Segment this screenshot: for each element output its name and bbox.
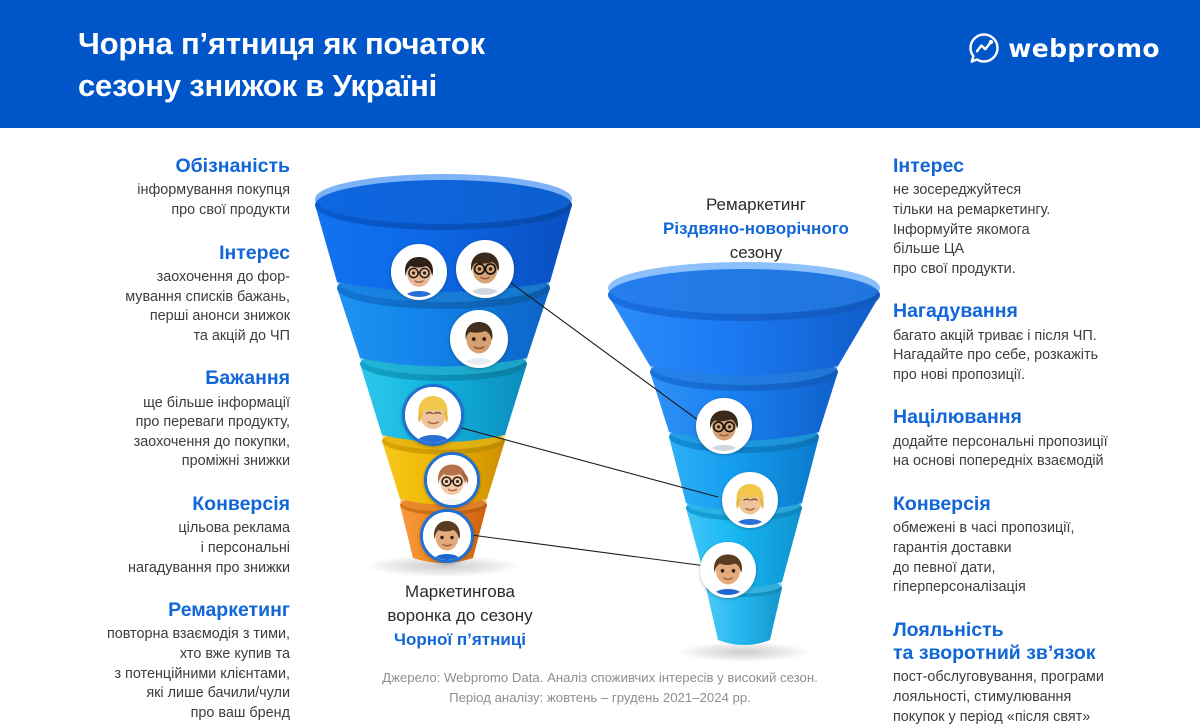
right-block-body: багато акцій триває і після ЧП. Нагадайт… — [893, 327, 1193, 386]
avatar-awareness-2 — [456, 240, 514, 298]
avatar-right-reminder — [696, 398, 752, 454]
avatar-remarketing-left — [420, 509, 474, 563]
left-block-title: Обізнаність — [20, 155, 290, 178]
brand-logo: webpromo — [969, 31, 1160, 65]
left-block-desire: Бажання ще більше інформації про переваг… — [20, 367, 290, 472]
right-block-body: додайте персональні пропозиції на основі… — [893, 433, 1193, 472]
left-block-body: заохочення до фор- мування списків бажан… — [20, 268, 290, 346]
caption-remarketing: Ремаркетинг Різдвяно-новорічного сезону — [628, 193, 884, 265]
left-block-awareness: Обізнаність інформування покупця про сво… — [20, 155, 290, 221]
right-block-title: Нагадування — [893, 300, 1193, 323]
logo-wordmark: webpromo — [1008, 34, 1160, 63]
caption-funnel-line2: воронка до сезону — [332, 604, 588, 628]
page-title: Чорна п’ятниця як початок сезону знижок … — [78, 23, 718, 106]
left-block-title: Ремаркетинг — [20, 599, 290, 622]
avatar-awareness-1 — [391, 244, 447, 300]
caption-remarketing-line3: сезону — [628, 241, 884, 265]
left-block-body: інформування покупця про свої продукти — [20, 181, 290, 220]
caption-remarketing-line2: Різдвяно-новорічного — [628, 217, 884, 241]
caption-funnel-line1: Маркетингова — [332, 580, 588, 604]
caption-remarketing-line1: Ремаркетинг — [628, 193, 884, 217]
right-block-body: пост-обслуговування, програми лояльності… — [893, 668, 1193, 727]
left-block-conversion: Конверсія цільова реклама і персональні … — [20, 493, 290, 578]
avatar-right-targeting — [722, 472, 778, 528]
right-stage-list: Інтерес не зосереджуйтеся тільки на рема… — [893, 155, 1193, 727]
left-stage-list: Обізнаність інформування покупця про сво… — [20, 155, 290, 723]
funnel-right-segment-1 — [608, 262, 880, 376]
right-block-title: Націлювання — [893, 406, 1193, 429]
right-block-targeting: Націлювання додайте персональні пропозиц… — [893, 406, 1193, 472]
left-block-body: цільова реклама і персональні нагадуванн… — [20, 519, 290, 578]
left-block-body: ще більше інформації про переваги продук… — [20, 394, 290, 472]
right-block-title: Конверсія — [893, 493, 1193, 516]
avatar-interest — [450, 310, 508, 368]
left-block-title: Інтерес — [20, 242, 290, 265]
avatar-desire — [402, 384, 464, 446]
avatar-conversion — [424, 452, 480, 508]
caption-funnel: Маркетингова воронка до сезону Чорної п’… — [332, 580, 588, 652]
right-block-interest: Інтерес не зосереджуйтеся тільки на рема… — [893, 155, 1193, 279]
webpromo-mark-icon — [969, 33, 999, 63]
right-block-title: Інтерес — [893, 155, 1193, 178]
connector-line-1 — [500, 275, 702, 423]
left-block-title: Конверсія — [20, 493, 290, 516]
right-block-conversion: Конверсія обмежені в часі пропозиції, га… — [893, 493, 1193, 598]
connector-line-3 — [456, 533, 706, 566]
left-block-remarketing: Ремаркетинг повторна взаємодія з тими, х… — [20, 599, 290, 723]
source-note: Джерело: Webpromo Data. Аналіз споживчих… — [300, 668, 900, 708]
caption-funnel-line3: Чорної п’ятниці — [332, 628, 588, 652]
header-banner: Чорна п’ятниця як початок сезону знижок … — [0, 0, 1200, 128]
right-block-loyalty: Лояльність та зворотний зв’язок пост-обс… — [893, 619, 1193, 727]
left-block-body: повторна взаємодія з тими, хто вже купив… — [20, 625, 290, 723]
infographic-page: Чорна п’ятниця як початок сезону знижок … — [0, 0, 1200, 717]
right-block-title: Лояльність та зворотний зв’язок — [893, 619, 1193, 666]
right-block-body: не зосереджуйтеся тільки на ремаркетингу… — [893, 181, 1193, 279]
right-block-reminder: Нагадування багато акцій триває і після … — [893, 300, 1193, 385]
avatar-right-conversion — [700, 542, 756, 598]
left-block-title: Бажання — [20, 367, 290, 390]
right-block-body: обмежені в часі пропозиції, гарантія дос… — [893, 519, 1193, 597]
left-block-interest: Інтерес заохочення до фор- мування списк… — [20, 242, 290, 347]
